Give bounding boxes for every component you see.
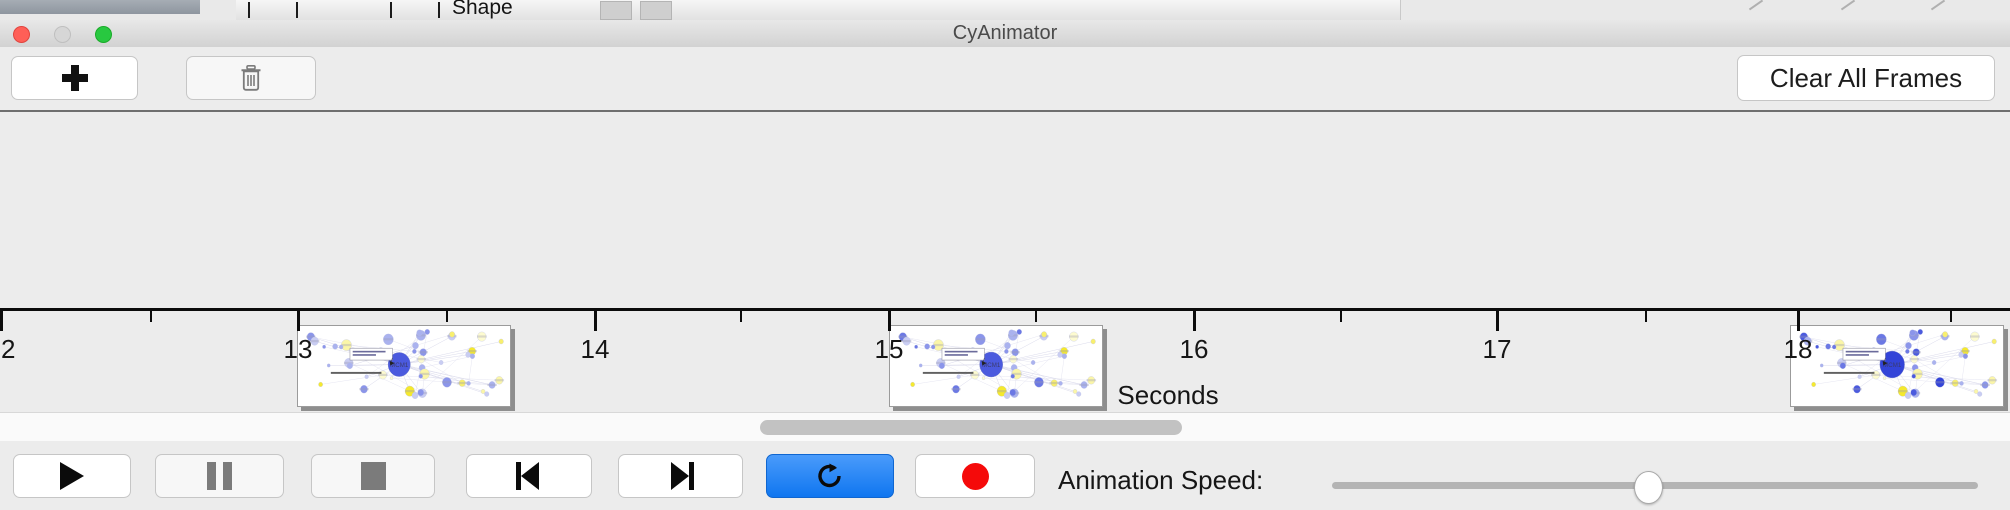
- pause-icon: [207, 462, 232, 490]
- trash-icon: [240, 65, 262, 91]
- transport-bar: Animation Speed:: [0, 441, 2010, 510]
- axis-tick: [446, 311, 448, 322]
- animation-speed-slider[interactable]: [1332, 482, 1978, 489]
- plus-icon: [62, 65, 88, 91]
- timeline-panel[interactable]: MCM1MCM1MCM1 12131415161718 Seconds: [0, 112, 2010, 412]
- frame-thumbnail-1[interactable]: MCM1: [297, 325, 511, 407]
- axis-tick: [594, 311, 597, 331]
- axis-tick: [1950, 311, 1952, 322]
- skip-back-icon: [516, 462, 542, 490]
- toolbar: Clear All Frames: [0, 47, 2010, 112]
- axis-tick: [297, 311, 300, 331]
- stop-icon: [361, 462, 386, 490]
- axis-tick: [0, 311, 3, 331]
- axis-tick: [150, 311, 152, 322]
- skip-to-end-button[interactable]: [618, 454, 743, 498]
- clear-all-frames-button[interactable]: Clear All Frames: [1737, 55, 1995, 101]
- background-window-label: Shape: [452, 0, 513, 20]
- axis-tick-label: 14: [581, 334, 610, 365]
- timeline-scrollbar[interactable]: [0, 412, 2010, 442]
- axis-tick-label: 17: [1483, 334, 1512, 365]
- frame-thumbnail-3[interactable]: MCM1: [1790, 325, 2004, 407]
- skip-to-start-button[interactable]: [466, 454, 592, 498]
- axis-tick: [1645, 311, 1647, 322]
- axis-tick: [1340, 311, 1342, 322]
- page-title: CyAnimator: [0, 20, 2010, 47]
- timeline-axis: [0, 308, 2010, 311]
- delete-frame-button[interactable]: [186, 56, 316, 100]
- animation-speed-label: Animation Speed:: [1058, 465, 1263, 496]
- slider-thumb[interactable]: [1634, 471, 1663, 504]
- axis-tick: [1193, 311, 1196, 331]
- axis-tick-label: 12: [0, 334, 15, 365]
- scrollbar-thumb[interactable]: [760, 420, 1182, 435]
- record-button[interactable]: [915, 454, 1035, 498]
- skip-forward-icon: [668, 462, 694, 490]
- loop-button[interactable]: [766, 454, 894, 498]
- axis-tick-label: 16: [1180, 334, 1209, 365]
- axis-tick: [1797, 311, 1800, 331]
- axis-tick-label: 13: [284, 334, 313, 365]
- frame-thumbnail-2[interactable]: MCM1: [889, 325, 1103, 407]
- axis-tick: [1035, 311, 1037, 322]
- background-window-strip: Shape: [0, 0, 2010, 20]
- axis-tick-label: 15: [875, 334, 904, 365]
- play-button[interactable]: [13, 454, 131, 498]
- stop-button[interactable]: [311, 454, 435, 498]
- play-icon: [60, 462, 84, 490]
- cyanimator-window: Shape CyAnimator Clear All Frames: [0, 0, 2010, 510]
- record-icon: [962, 463, 989, 490]
- axis-caption: Seconds: [1117, 380, 1218, 411]
- axis-tick: [740, 311, 742, 322]
- axis-tick-label: 18: [1784, 334, 1813, 365]
- background-titlebar-fragment: [0, 0, 200, 14]
- add-frame-button[interactable]: [11, 56, 138, 100]
- loop-icon: [815, 461, 845, 491]
- axis-tick: [888, 311, 891, 331]
- pause-button[interactable]: [155, 454, 284, 498]
- axis-tick: [1496, 311, 1499, 331]
- title-bar: CyAnimator: [0, 20, 2010, 48]
